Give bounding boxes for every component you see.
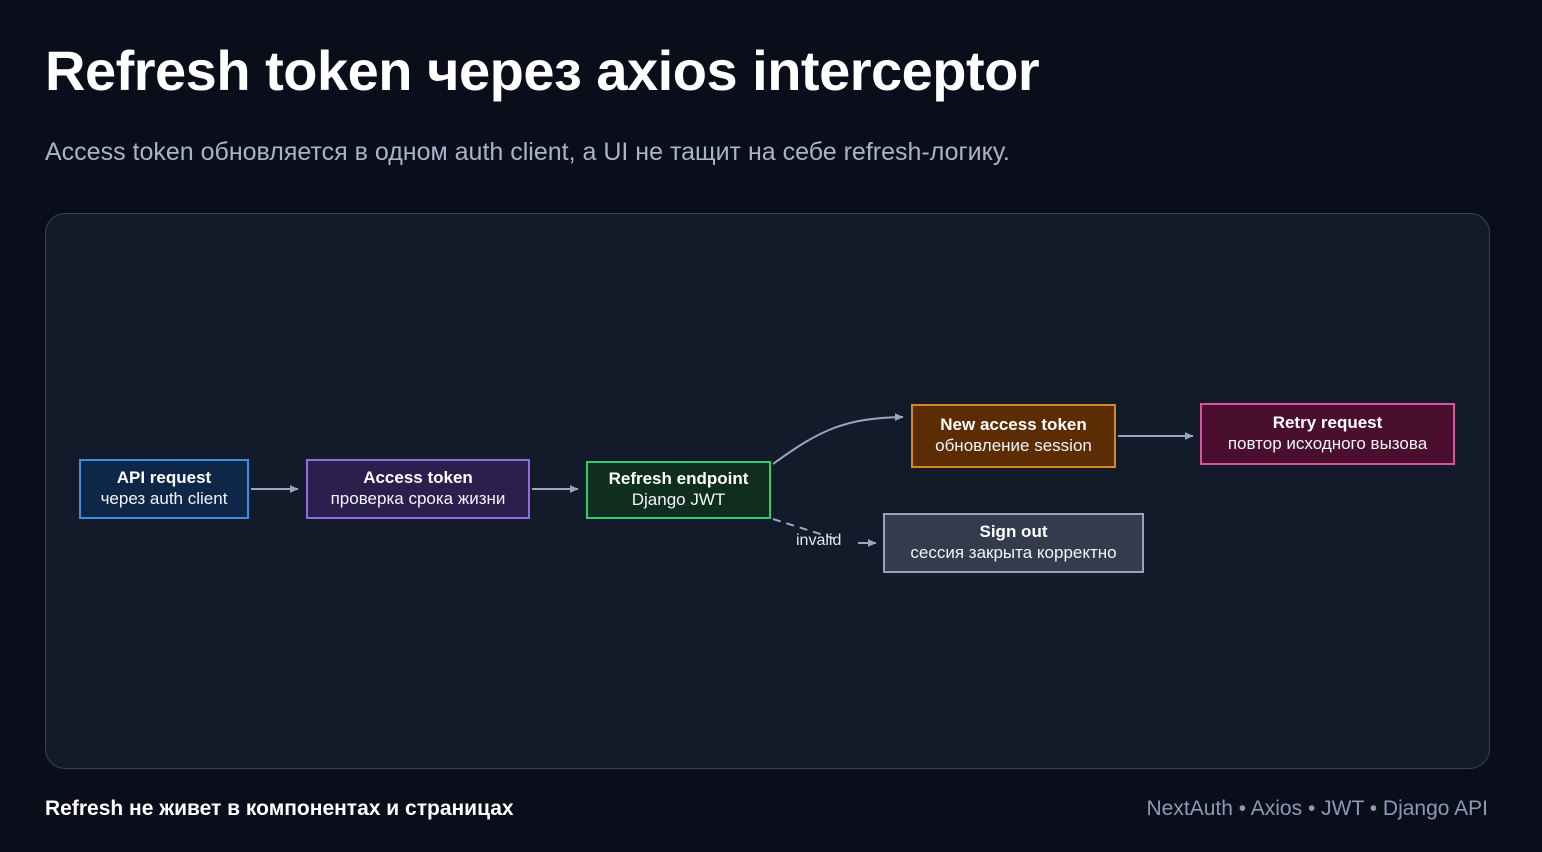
node-api-request[interactable]: API request через auth client xyxy=(79,459,249,519)
node-caption: обновление session xyxy=(935,436,1092,457)
node-sign-out[interactable]: Sign out сессия закрыта корректно xyxy=(883,513,1144,573)
node-caption: повтор исходного вызова xyxy=(1228,434,1427,455)
node-title: Retry request xyxy=(1273,413,1383,434)
node-new-access-token[interactable]: New access token обновление session xyxy=(911,404,1116,468)
footer-left-text: Refresh не живет в компонентах и страниц… xyxy=(45,797,514,821)
edge-refresh-to-newtoken xyxy=(773,417,903,464)
node-caption: сессия закрыта корректно xyxy=(910,543,1116,564)
page-title: Refresh token через axios interceptor xyxy=(45,38,1039,103)
node-access-token[interactable]: Access token проверка срока жизни xyxy=(306,459,530,519)
node-title: Refresh endpoint xyxy=(609,469,749,490)
node-retry-request[interactable]: Retry request повтор исходного вызова xyxy=(1200,403,1455,465)
node-title: Sign out xyxy=(980,522,1048,543)
node-refresh-endpoint[interactable]: Refresh endpoint Django JWT xyxy=(586,461,771,519)
node-title: Access token xyxy=(363,468,473,489)
node-caption: через auth client xyxy=(101,489,228,510)
node-title: API request xyxy=(117,468,211,489)
footer-right-text: NextAuth • Axios • JWT • Django API xyxy=(1147,797,1488,821)
node-caption: проверка срока жизни xyxy=(331,489,506,510)
page-subtitle: Access token обновляется в одном auth cl… xyxy=(45,138,1010,167)
edge-label-invalid: invalid xyxy=(796,532,841,550)
slide-root: Refresh token через axios interceptor Ac… xyxy=(0,0,1542,852)
diagram-card: invalid API request через auth client Ac… xyxy=(45,213,1490,769)
node-title: New access token xyxy=(940,415,1086,436)
node-caption: Django JWT xyxy=(632,490,726,511)
